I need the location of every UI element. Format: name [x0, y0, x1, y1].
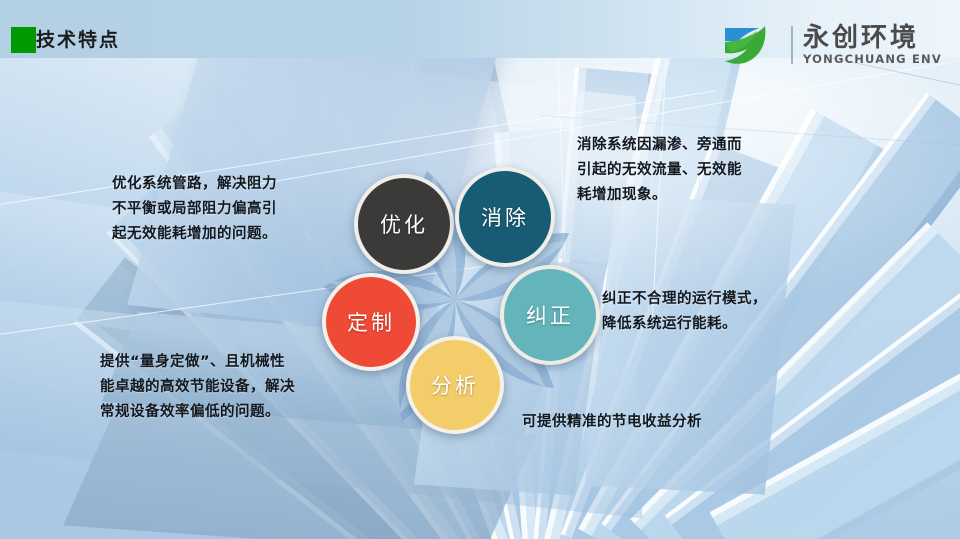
- logo-name-cn: 永创环境: [803, 25, 942, 51]
- slide-canvas: 技术特点 永创环境 YONGCHUANG ENV 优化消除定制纠正分析 优化系统…: [0, 0, 960, 539]
- callout-customize-note: 提供“量身定做”、且机械性 能卓越的高效节能设备，解决 常规设备效率偏低的问题。: [100, 350, 362, 425]
- page-title: 技术特点: [36, 27, 120, 53]
- company-logo: 永创环境 YONGCHUANG ENV: [719, 22, 942, 68]
- logo-wordmark: 永创环境 YONGCHUANG ENV: [803, 25, 942, 66]
- diagram-node-label: 定制: [347, 307, 395, 337]
- callout-analyze-note: 可提供精准的节电收益分析: [522, 410, 822, 435]
- logo-divider: [791, 26, 793, 64]
- title-accent-square: [11, 27, 36, 53]
- callout-correct-note: 纠正不合理的运行模式， 降低系统运行能耗。: [602, 287, 822, 337]
- diagram-node-label: 分析: [431, 370, 479, 400]
- diagram-node-label: 纠正: [526, 300, 574, 330]
- diagram-node-label: 消除: [481, 202, 529, 232]
- diagram-node-label: 优化: [380, 209, 428, 239]
- callout-eliminate-note: 消除系统因漏渗、旁通而 引起的无效流量、无效能 耗增加现象。: [577, 133, 807, 208]
- diagram-node-optimize[interactable]: 优化: [354, 174, 454, 274]
- logo-name-en: YONGCHUANG ENV: [803, 54, 942, 66]
- diagram-node-correct[interactable]: 纠正: [500, 265, 600, 365]
- diagram-node-eliminate[interactable]: 消除: [455, 167, 555, 267]
- callout-optimize-note: 优化系统管路，解决阻力 不平衡或局部阻力偏高引 起无效能耗增加的问题。: [112, 172, 362, 247]
- leaf-logo-icon: [719, 22, 781, 68]
- diagram-node-analyze[interactable]: 分析: [406, 336, 504, 434]
